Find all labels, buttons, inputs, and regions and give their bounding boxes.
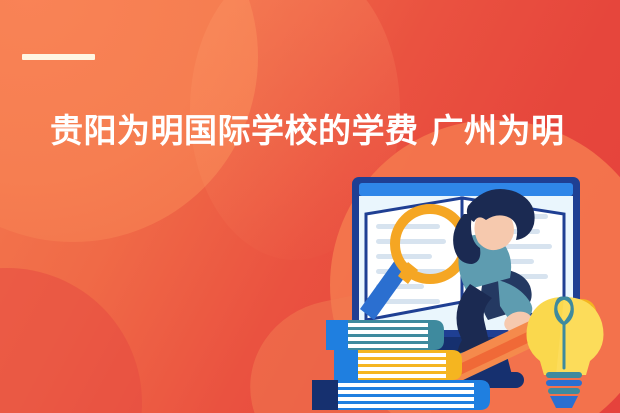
page-title: 贵阳为明国际学校的学费 广州为明 [50,110,610,151]
online-learning-illustration [312,172,620,413]
accent-rule [22,54,95,60]
lightbulb-icon [527,297,604,408]
banner: 贵阳为明国际学校的学费 广州为明 [0,0,620,413]
